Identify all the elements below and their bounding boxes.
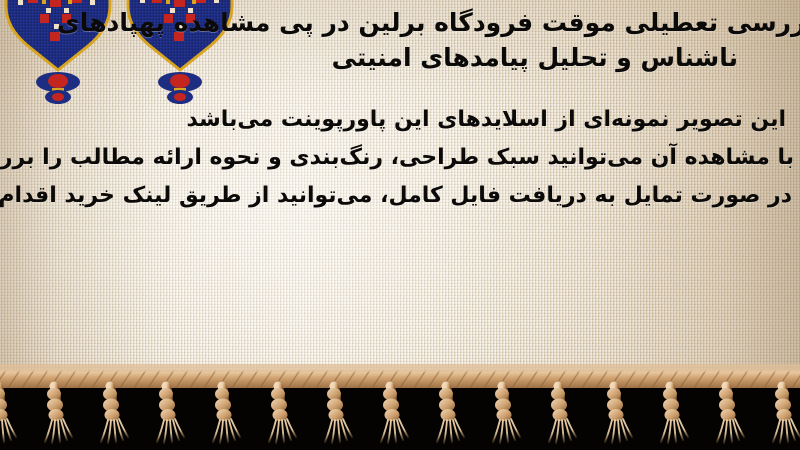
slide-body-block: این تصویر نمونه‌ای از اسلایدهای این پاور…: [0, 101, 798, 214]
carpet-fringe: [0, 360, 800, 450]
slide-body-line-2: با مشاهده آن می‌توانید سبک طراحی، رنگ‌بن…: [0, 139, 794, 177]
slide-body-line-3: در صورت تمایل به دریافت فایل کامل، می‌تو…: [0, 177, 792, 215]
slide-text-block: بررسی تعطیلی موقت فرودگاه برلین در پی مش…: [0, 0, 800, 214]
slide-title-line-1: بررسی تعطیلی موقت فرودگاه برلین در پی مش…: [0, 6, 800, 41]
slide-body-line-1: این تصویر نمونه‌ای از اسلایدهای این پاور…: [0, 101, 786, 139]
slide-title-line-2: ناشناس و تحلیل پیامدهای امنیتی: [0, 41, 738, 76]
fringe-tassels: [0, 360, 800, 450]
presentation-slide: بررسی تعطیلی موقت فرودگاه برلین در پی مش…: [0, 0, 800, 450]
